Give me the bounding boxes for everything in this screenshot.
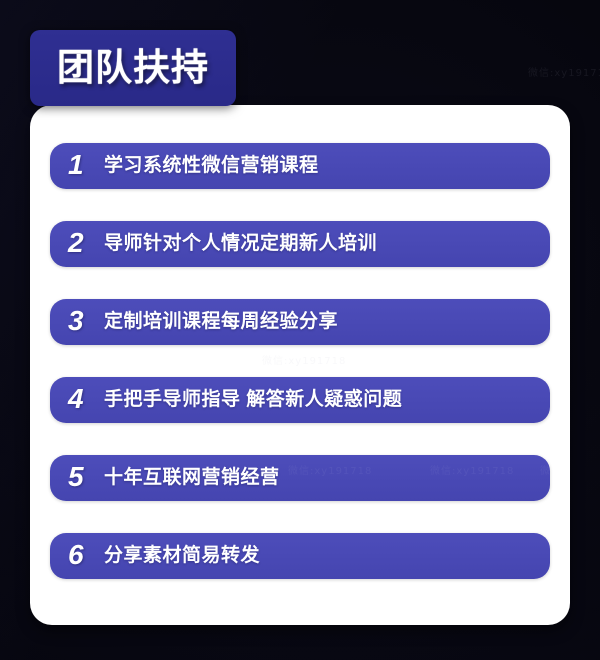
list-item-number: 1 [68,151,94,182]
list-item-number: 6 [68,541,94,572]
list-item[interactable]: 2 导师针对个人情况定期新人培训 [50,221,550,267]
list-item[interactable]: 1 学习系统性微信营销课程 [50,143,550,189]
list-item-number: 4 [68,385,94,416]
list-item-label: 定制培训课程每周经验分享 [104,312,338,333]
promo-graphic: 微信:xy191718 团队扶持 1 学习系统性微信营销课程 2 导师针对个人情… [0,0,600,660]
list-item-label: 分享素材简易转发 [104,546,260,567]
page-title: 团队扶持 [57,49,209,88]
list-item[interactable]: 5 十年互联网营销经营 [50,455,550,501]
list-item-label: 导师针对个人情况定期新人培训 [104,234,377,255]
list-item-number: 5 [68,463,94,494]
list-item-label: 十年互联网营销经营 [104,468,280,489]
list-item-label: 学习系统性微信营销课程 [104,156,319,177]
list-item-number: 3 [68,307,94,338]
title-badge: 团队扶持 [30,30,236,106]
list-item[interactable]: 6 分享素材简易转发 [50,533,550,579]
list-item-label: 手把手导师指导 解答新人疑惑问题 [104,390,402,411]
list-item[interactable]: 3 定制培训课程每周经验分享 [50,299,550,345]
list-item-number: 2 [68,229,94,260]
list-item[interactable]: 4 手把手导师指导 解答新人疑惑问题 [50,377,550,423]
watermark: 微信:xy191718 [528,64,600,79]
benefit-list: 1 学习系统性微信营销课程 2 导师针对个人情况定期新人培训 3 定制培训课程每… [50,143,550,579]
content-card: 1 学习系统性微信营销课程 2 导师针对个人情况定期新人培训 3 定制培训课程每… [30,105,570,625]
